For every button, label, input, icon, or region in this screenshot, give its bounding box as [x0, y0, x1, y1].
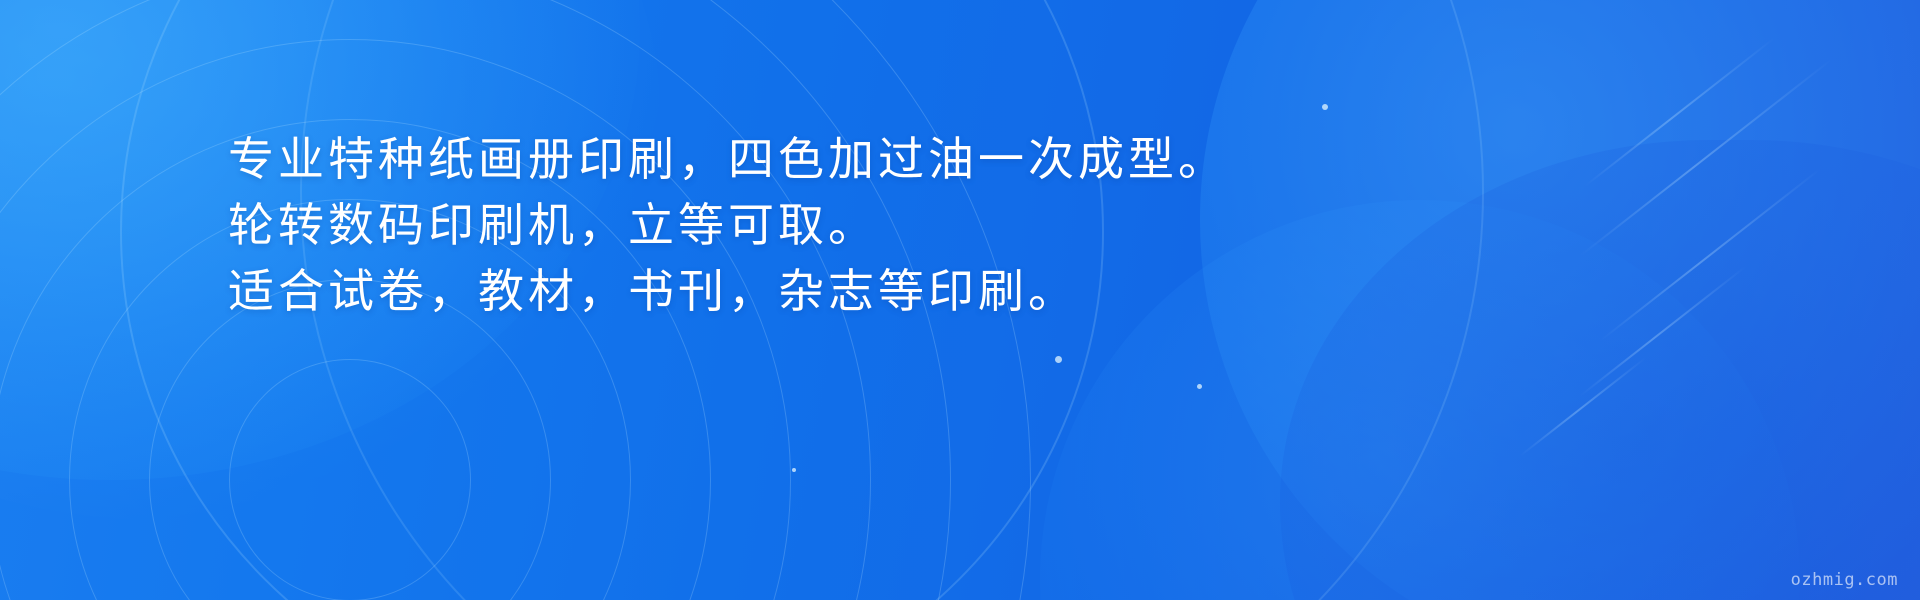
headline-line-2: 轮转数码印刷机，立等可取。: [228, 192, 1628, 258]
promo-banner: 专业特种纸画册印刷，四色加过油一次成型。 轮转数码印刷机，立等可取。 适合试卷，…: [0, 0, 1920, 600]
accent-dot: [1322, 104, 1328, 110]
accent-dot: [792, 468, 796, 472]
accent-dot: [1055, 356, 1062, 363]
headline-line-1: 专业特种纸画册印刷，四色加过油一次成型。: [228, 126, 1628, 192]
watermark-text: ozhmig.com: [1791, 570, 1898, 590]
headline-block: 专业特种纸画册印刷，四色加过油一次成型。 轮转数码印刷机，立等可取。 适合试卷，…: [228, 126, 1628, 324]
accent-dot: [1197, 384, 1202, 389]
headline-line-3: 适合试卷，教材，书刊，杂志等印刷。: [228, 258, 1628, 324]
